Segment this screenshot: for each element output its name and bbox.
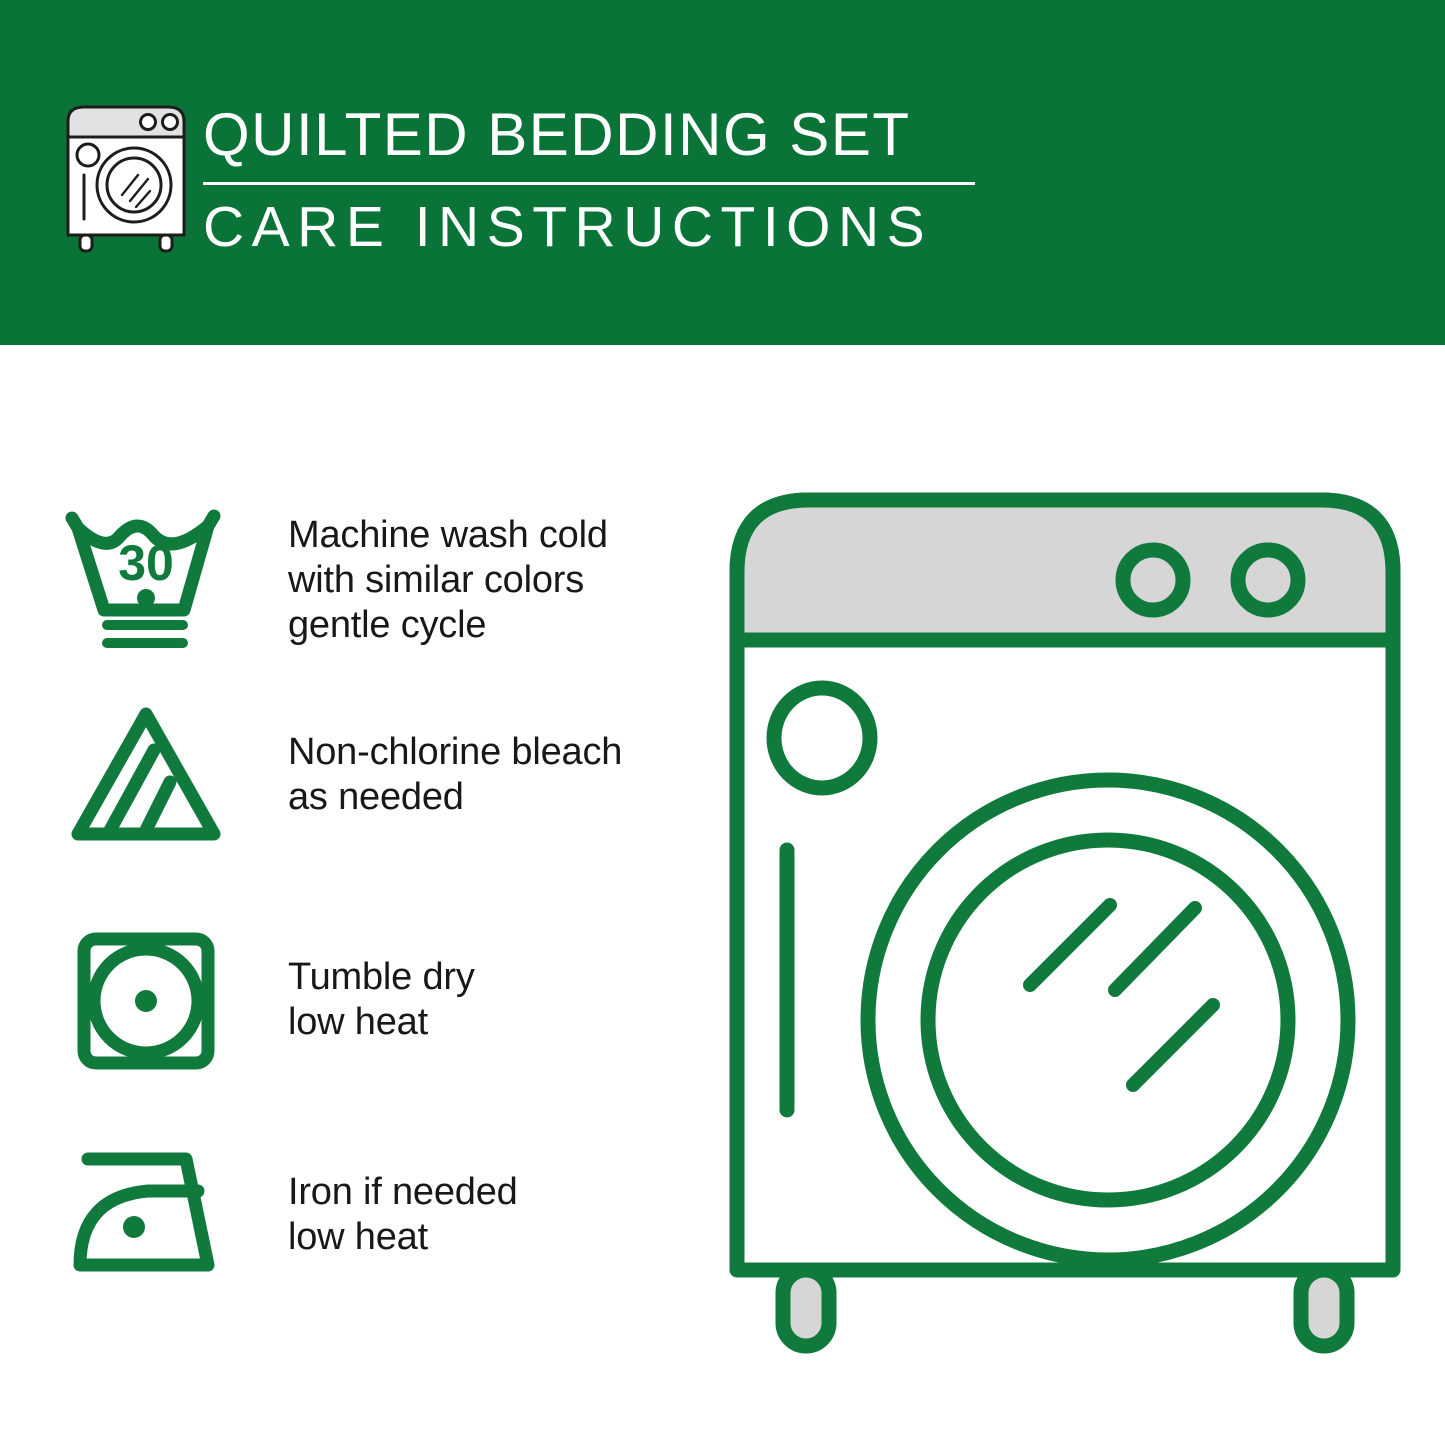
page-subtitle: CARE INSTRUCTIONS (203, 194, 1003, 260)
header-text-block: QUILTED BEDDING SET CARE INSTRUCTIONS (203, 100, 1003, 260)
care-row-iron: Iron if needed low heat (0, 1135, 700, 1295)
knob-right (1238, 550, 1298, 610)
care-label-iron: Iron if needed low heat (288, 1170, 518, 1260)
knob-left (1123, 550, 1183, 610)
iron-heat-dot (123, 1216, 145, 1238)
tumble-dry-low-icon (62, 925, 242, 1075)
washing-machine-icon (62, 103, 190, 255)
tumble-dry-heat-dot (135, 990, 157, 1012)
door-porthole (928, 840, 1288, 1200)
care-label-line: gentle cycle (288, 603, 608, 648)
title-divider (203, 182, 975, 185)
wash-tub-30-gentle-icon: 30 (62, 502, 242, 658)
leg-right (1301, 1270, 1347, 1346)
care-label-line: Iron if needed (288, 1170, 518, 1215)
care-row-tumble-dry: Tumble dry low heat (0, 920, 700, 1080)
iron-low-heat-icon (62, 1145, 242, 1285)
care-label-line: Machine wash cold (288, 513, 608, 558)
care-label-line: as needed (288, 775, 622, 820)
care-label-line: Tumble dry (288, 955, 475, 1000)
wash-temperature-value: 30 (118, 535, 174, 591)
care-row-machine-wash: 30 Machine wash cold with similar colors… (0, 495, 700, 665)
front-load-washing-machine-illustration (725, 480, 1405, 1360)
page-title: QUILTED BEDDING SET (203, 100, 1003, 170)
care-instruction-list: 30 Machine wash cold with similar colors… (0, 345, 700, 1445)
care-label-machine-wash: Machine wash cold with similar colors ge… (288, 513, 608, 648)
care-label-line: low heat (288, 1000, 475, 1045)
care-label-bleach: Non-chlorine bleach as needed (288, 730, 622, 820)
care-row-bleach: Non-chlorine bleach as needed (0, 695, 700, 855)
gentle-dot (137, 589, 155, 607)
leg-left (783, 1270, 829, 1346)
non-chlorine-bleach-triangle-icon (62, 700, 242, 850)
care-label-line: low heat (288, 1215, 518, 1260)
care-label-line: with similar colors (288, 558, 608, 603)
care-label-tumble-dry: Tumble dry low heat (288, 955, 475, 1045)
dispenser-light (774, 688, 870, 788)
header-banner: QUILTED BEDDING SET CARE INSTRUCTIONS (0, 0, 1445, 345)
care-label-line: Non-chlorine bleach (288, 730, 622, 775)
care-instructions-infographic: QUILTED BEDDING SET CARE INSTRUCTIONS 30 (0, 0, 1445, 1445)
